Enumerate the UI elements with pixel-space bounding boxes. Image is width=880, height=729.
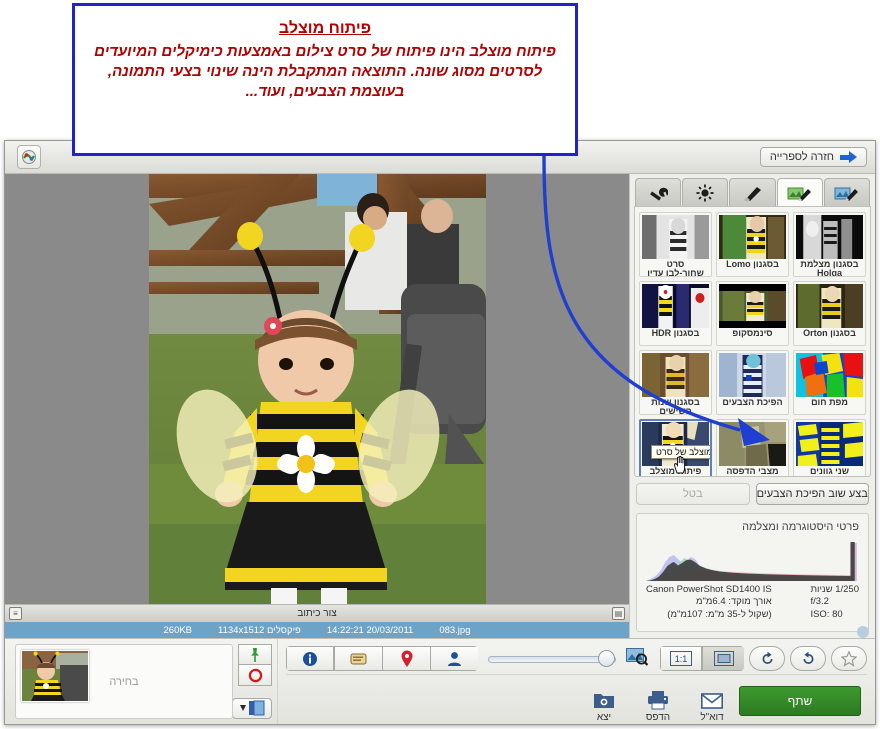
email-label: דוא"ל — [700, 712, 723, 723]
metadata-button-group — [286, 646, 478, 671]
paint-globe-icon[interactable] — [17, 145, 41, 169]
caption-tag-icon[interactable]: ▤ — [612, 607, 625, 620]
callout-body: פיתוח מוצלב הינו פיתוח של סרט צילום באמצ… — [75, 42, 575, 102]
actual-size-button[interactable]: 1:1 — [660, 646, 702, 671]
apply-effect-button[interactable]: בצע שוב הפיכת הצבעים — [756, 483, 870, 505]
tray-thumbnail[interactable] — [21, 650, 89, 702]
effect-label: בסגנון Lomo — [719, 259, 786, 269]
effect-label: סרט שחור-לבן עדין — [642, 259, 709, 277]
file-dimensions: 1134x1512 פיקסלים — [218, 625, 301, 636]
photo-magnifier-icon[interactable] — [626, 647, 648, 671]
file-datetime: 14:22:21 20/03/2011 — [327, 625, 413, 636]
photo-stage[interactable] — [5, 174, 629, 604]
file-status-bar: 260KB 1134x1512 פיקסלים 14:22:21 20/03/2… — [5, 622, 629, 638]
people-button[interactable] — [430, 646, 478, 671]
effect-cell-invert[interactable]: הפיכת הצבעים — [716, 350, 789, 415]
effect-thumbnail — [719, 353, 786, 397]
camera-info: 1/250 שניות f/3.2 ISO: 80 Canon PowerSho… — [646, 584, 859, 622]
effect-action-buttons: בצע שוב הפיכת הצבעים בטל — [634, 477, 871, 509]
editor-main-split: בסגנון מצלמת Holga — [5, 174, 875, 638]
effect-cell-orton[interactable]: בסגנון Orton — [793, 281, 866, 346]
annotation-callout: פיתוח מוצלב פיתוח מוצלב הינו פיתוח של סר… — [72, 3, 578, 156]
caption-bar: ▤ צור כיתוב ≡ — [5, 604, 629, 622]
effect-thumbnail — [642, 215, 709, 259]
photo-tray: בחירה — [5, 639, 278, 724]
file-size: 260KB — [164, 625, 193, 636]
effect-thumbnail — [796, 284, 863, 328]
email-button[interactable]: דוא"ל — [685, 679, 739, 723]
photo-canvas-area: ▤ צור כיתוב ≡ 260KB 1134x1512 פיקסלים 14… — [5, 174, 629, 638]
zoom-slider-track — [488, 656, 616, 663]
export-button[interactable]: יצא — [577, 679, 631, 723]
effect-cell-posterize[interactable]: מצבי הדפסה (Posterize) — [716, 419, 789, 477]
editor-tab-strip — [634, 178, 871, 206]
histogram-panel: פרטי היסטוגרמה ומצלמה 1/250 שניות f/3.2 — [636, 513, 869, 632]
effect-label: בסגנון שנות השישים — [642, 397, 709, 415]
camera-model: Canon PowerShot SD1400 IS — [646, 584, 772, 597]
tray-tool-buttons — [238, 644, 272, 719]
tray-selection-area[interactable]: בחירה — [15, 644, 233, 719]
camera-model-col: Canon PowerShot SD1400 IS אורך מוקד: 6.4… — [646, 584, 772, 622]
tray-clear-button[interactable] — [238, 665, 272, 686]
effect-cell-duotone[interactable]: שני גוונים — [793, 419, 866, 477]
shutter-speed: 1/250 שניות — [810, 584, 859, 597]
export-label: יצא — [597, 712, 611, 723]
camera-exposure-col: 1/250 שניות f/3.2 ISO: 80 — [810, 584, 859, 622]
zoom-slider[interactable] — [488, 648, 616, 670]
effect-label: הפיכת הצבעים — [719, 397, 786, 407]
toolbar-row-primary: 1:1 — [286, 643, 867, 675]
edited-photo — [149, 174, 486, 604]
effect-thumbnail — [719, 422, 786, 466]
effect-label: בסגנון מצלמת Holga — [796, 259, 863, 277]
effect-label: בסגנון Orton — [796, 328, 863, 338]
picasa-editor-window: חזרה לספרייה — [4, 140, 876, 725]
fit-to-window-button[interactable] — [702, 646, 744, 671]
effect-thumbnail — [719, 284, 786, 328]
zoom-slider-knob[interactable] — [598, 650, 615, 667]
svg-text:1:1: 1:1 — [675, 654, 688, 664]
effect-label: שני גוונים — [796, 466, 863, 476]
panel-toggle-icon[interactable]: ≡ — [9, 607, 22, 620]
focal-length: אורך מוקד: 6.4מ"מ — [646, 596, 772, 609]
zoom-mode-group: 1:1 — [660, 646, 744, 671]
effects-grid-container: בסגנון מצלמת Holga — [634, 206, 871, 477]
arrow-right-icon — [840, 151, 857, 163]
tray-album-dropdown[interactable] — [232, 698, 272, 719]
effect-label: סינמסקופ — [719, 328, 786, 338]
rotate-ccw-button[interactable] — [749, 646, 785, 671]
back-to-library-button[interactable]: חזרה לספרייה — [760, 147, 867, 167]
toolbar-row-actions: יצא הדפס — [286, 675, 867, 723]
tab-effects[interactable] — [777, 178, 823, 206]
hand-pointer-icon — [672, 455, 688, 474]
effect-thumbnail — [642, 284, 709, 328]
screenshot-root: חזרה לספרייה — [0, 0, 880, 729]
tray-pin-button[interactable] — [238, 644, 272, 665]
effect-thumbnail — [796, 215, 863, 259]
effect-cell-lomo[interactable]: בסגנון Lomo — [716, 212, 789, 277]
geotag-button[interactable] — [382, 646, 430, 671]
back-to-library-label: חזרה לספרייה — [770, 151, 834, 163]
histogram-chart — [646, 541, 859, 581]
iso: ISO: 80 — [810, 609, 859, 622]
effect-cell-cross-process[interactable]: פיתוח מוצלב פיתוח מוצלב של סרט — [639, 419, 712, 477]
caption-label[interactable]: צור כיתוב — [22, 608, 612, 619]
effect-label: בסגנון HDR — [642, 328, 709, 338]
effect-cell-cinemascope[interactable]: סינמסקופ — [716, 281, 789, 346]
tab-lighting[interactable] — [682, 178, 728, 206]
effect-thumbnail — [642, 353, 709, 397]
info-button[interactable] — [286, 646, 334, 671]
effect-thumbnail — [796, 353, 863, 397]
tab-tools[interactable] — [635, 178, 681, 206]
tray-scroll-dot[interactable] — [857, 626, 869, 638]
cancel-effect-button[interactable]: בטל — [636, 483, 750, 505]
effect-cell-bw-soft[interactable]: סרט שחור-לבן עדין — [639, 212, 712, 277]
bottom-toolbar-left: 1:1 — [278, 639, 875, 724]
aperture: f/3.2 — [810, 596, 859, 609]
tag-button[interactable] — [334, 646, 382, 671]
effect-label: מפת חום — [796, 397, 863, 407]
histogram-title: פרטי היסטוגרמה ומצלמה — [646, 521, 859, 533]
effect-cell-hdr[interactable]: בסגנון HDR — [639, 281, 712, 346]
print-button[interactable]: הדפס — [631, 679, 685, 723]
effect-cell-sixties[interactable]: בסגנון שנות השישים — [639, 350, 712, 415]
effects-panel: בסגנון מצלמת Holga — [629, 174, 875, 638]
effect-cell-holga[interactable]: בסגנון מצלמת Holga — [793, 212, 866, 277]
effect-cell-heatmap[interactable]: מפת חום — [793, 350, 866, 415]
effect-thumbnail — [719, 215, 786, 259]
rotate-cw-button[interactable] — [790, 646, 826, 671]
print-label: הדפס — [646, 712, 670, 723]
bottom-toolbar: 1:1 — [5, 638, 875, 724]
focal-equivalent: (שקול ל-35 מ"מ: 107מ"מ) — [646, 609, 772, 622]
tab-basic-fixes[interactable] — [824, 178, 870, 206]
tab-retouch[interactable] — [729, 178, 775, 206]
star-button[interactable] — [831, 646, 867, 671]
file-name: 083.jpg — [439, 625, 470, 636]
effect-thumbnail — [796, 422, 863, 466]
effect-label: מצבי הדפסה (Posterize) — [719, 466, 786, 477]
share-button[interactable]: שתף — [739, 686, 861, 716]
chevron-down-icon — [240, 705, 246, 711]
tray-label: בחירה — [109, 676, 138, 688]
callout-title: פיתוח מוצלב — [279, 20, 371, 38]
effects-grid: בסגנון מצלמת Holga — [639, 212, 866, 477]
